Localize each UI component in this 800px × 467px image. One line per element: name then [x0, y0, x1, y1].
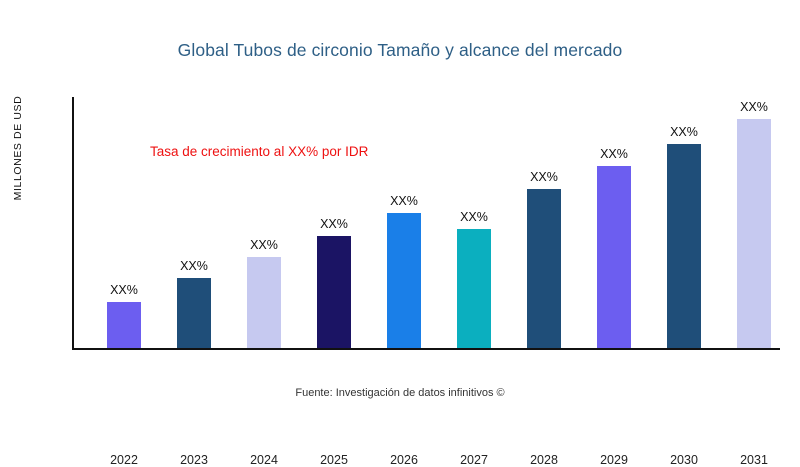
x-tick-label: 2031	[719, 453, 789, 467]
bar[interactable]	[597, 166, 631, 348]
bar[interactable]	[107, 302, 141, 348]
bar-value-label: XX%	[233, 238, 295, 252]
x-tick-label: 2023	[159, 453, 229, 467]
chart-title: Global Tubos de circonio Tamaño y alcanc…	[0, 40, 800, 61]
bar[interactable]	[247, 257, 281, 348]
bar[interactable]	[457, 229, 491, 348]
bar-value-label: XX%	[723, 100, 785, 114]
bar-value-label: XX%	[373, 194, 435, 208]
x-tick-label: 2027	[439, 453, 509, 467]
x-tick-label: 2028	[509, 453, 579, 467]
bar[interactable]	[667, 144, 701, 348]
chart-container: Global Tubos de circonio Tamaño y alcanc…	[0, 0, 800, 450]
bar[interactable]	[737, 119, 771, 348]
x-tick-label: 2029	[579, 453, 649, 467]
bar-value-label: XX%	[583, 147, 645, 161]
bar-value-label: XX%	[93, 283, 155, 297]
x-axis-line	[72, 348, 780, 350]
bar-value-label: XX%	[303, 217, 365, 231]
x-tick-label: 2022	[89, 453, 159, 467]
y-axis-line	[72, 97, 74, 350]
bar[interactable]	[527, 189, 561, 348]
growth-rate-annotation: Tasa de crecimiento al XX% por IDR	[150, 144, 368, 159]
bar[interactable]	[387, 213, 421, 348]
source-footer: Fuente: Investigación de datos infinitiv…	[0, 387, 800, 399]
y-axis-title: MILLONES DE USD	[12, 68, 24, 228]
bar[interactable]	[317, 236, 351, 348]
bar[interactable]	[177, 278, 211, 348]
x-tick-label: 2024	[229, 453, 299, 467]
bar-value-label: XX%	[513, 170, 575, 184]
bar-value-label: XX%	[443, 210, 505, 224]
x-tick-label: 2026	[369, 453, 439, 467]
plot-area: XX%XX%XX%XX%XX%XX%XX%XX%XX%XX% 202220232…	[72, 97, 780, 350]
x-tick-label: 2025	[299, 453, 369, 467]
bar-value-label: XX%	[653, 125, 715, 139]
bar-value-label: XX%	[163, 259, 225, 273]
x-tick-label: 2030	[649, 453, 719, 467]
